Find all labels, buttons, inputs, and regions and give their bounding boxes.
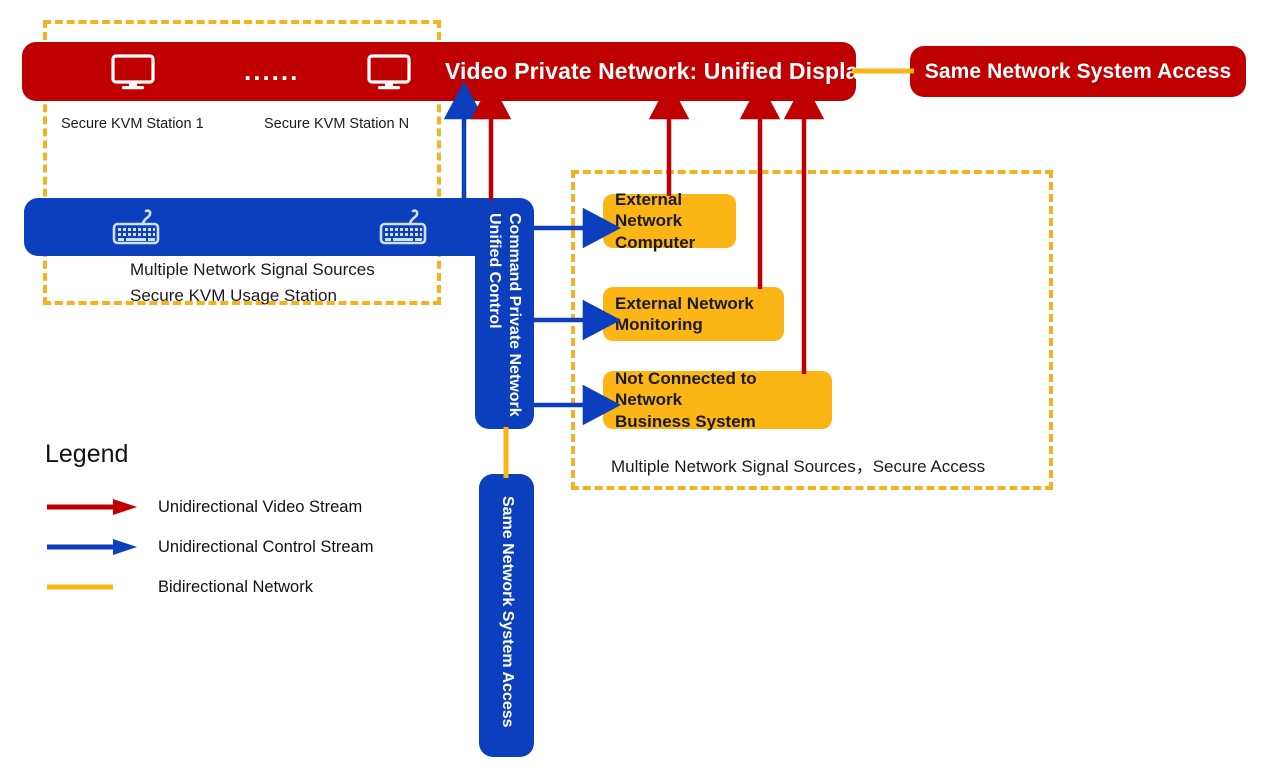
right-group-caption: Multiple Network Signal Sources，Secure A… xyxy=(611,452,985,477)
keyboard-icon xyxy=(377,207,433,252)
legend: Legend Unidirectional Video Stream Unidi… xyxy=(45,440,374,607)
legend-item-control-stream: Unidirectional Control Stream xyxy=(45,527,374,567)
not-connected-business-system-box[interactable]: Not Connected to Network Business System xyxy=(603,371,832,429)
caption-kvm-station-n: Secure KVM Station N xyxy=(264,116,409,132)
monitor-icon xyxy=(366,53,412,96)
same-network-label: Same Network System Access xyxy=(925,60,1232,84)
diagram-canvas: ...... Video Private Network: Unified Di… xyxy=(0,0,1267,783)
caption-kvm-station-1: Secure KVM Station 1 xyxy=(61,116,204,132)
legend-label: Unidirectional Video Stream xyxy=(158,498,362,517)
same-network-access-column[interactable]: Same Network System Access xyxy=(479,474,534,757)
command-private-network-column[interactable]: Command Private Network Unified Control xyxy=(475,199,534,429)
kvm-usage-bar[interactable] xyxy=(24,198,534,256)
red-arrow-icon xyxy=(45,497,140,517)
ellipsis-dots: ...... xyxy=(244,56,299,87)
legend-item-video-stream: Unidirectional Video Stream xyxy=(45,487,374,527)
external-network-monitoring-box[interactable]: External Network Monitoring xyxy=(603,287,784,341)
legend-label: Unidirectional Control Stream xyxy=(158,538,374,557)
command-column-line2: Unified Control xyxy=(485,213,503,329)
legend-label: Bidirectional Network xyxy=(158,578,313,597)
command-column-line1: Command Private Network xyxy=(505,213,523,417)
caption-kvm-usage-station: Multiple Network Signal Sources Secure K… xyxy=(130,257,375,308)
blue-arrow-icon xyxy=(45,537,140,557)
external-box-label: External Network Monitoring xyxy=(603,287,766,342)
monitor-icon xyxy=(110,53,156,96)
bottom-column-label: Same Network System Access xyxy=(498,496,516,728)
keyboard-icon xyxy=(110,207,166,252)
same-network-system-access-box[interactable]: Same Network System Access xyxy=(910,46,1246,97)
legend-title: Legend xyxy=(45,440,374,469)
external-box-label: Not Connected to Network Business System xyxy=(603,362,832,438)
video-private-network-banner[interactable]: ...... Video Private Network: Unified Di… xyxy=(22,42,856,101)
legend-item-bidirectional-network: Bidirectional Network xyxy=(45,567,374,607)
external-network-computer-box[interactable]: External Network Computer xyxy=(603,194,736,248)
banner-title: Video Private Network: Unified Display xyxy=(445,58,871,85)
external-box-label: External Network Computer xyxy=(603,183,736,259)
orange-line-icon xyxy=(45,577,140,597)
